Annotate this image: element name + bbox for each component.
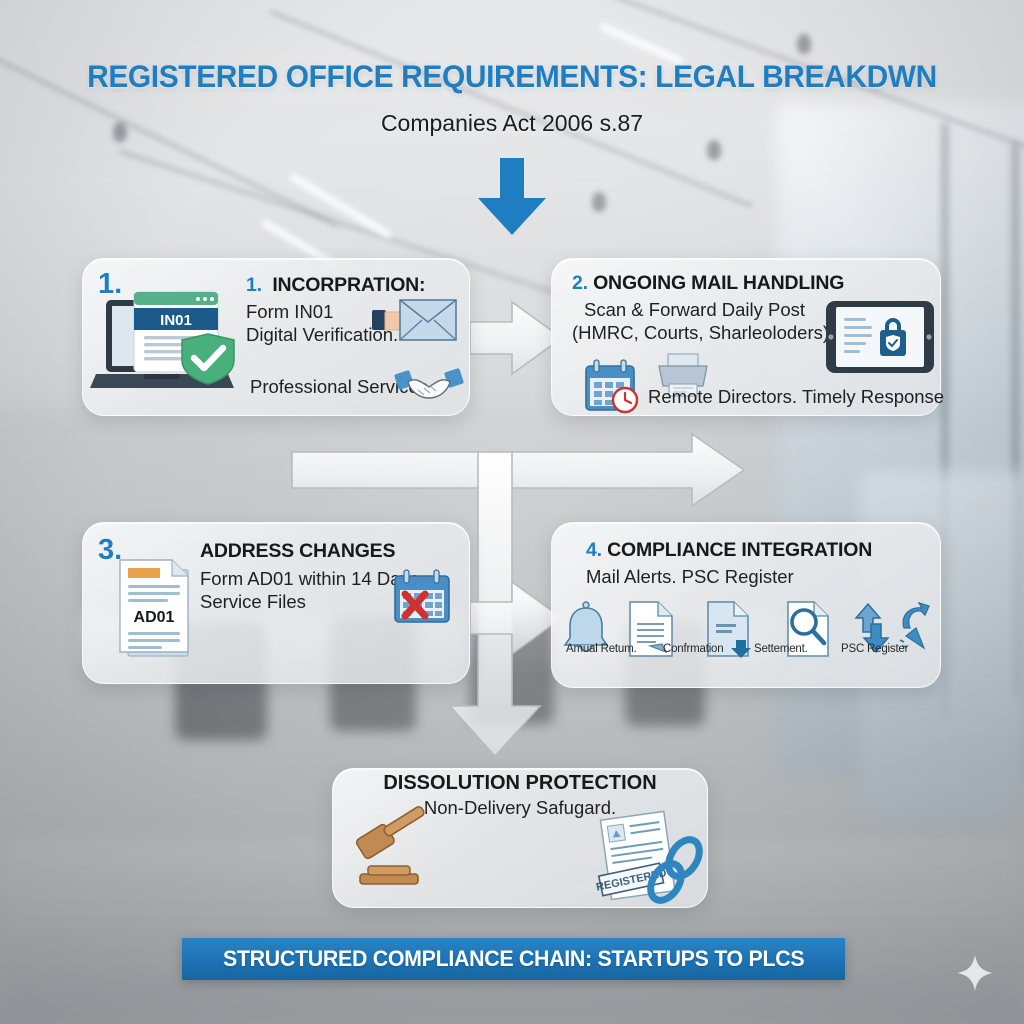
- icon-label-psc-register: PSC Register: [841, 643, 908, 655]
- card-2-heading-number: 2.: [572, 272, 588, 294]
- document-chain-icon: REGISTERED: [598, 812, 710, 908]
- icon-label-settlement: Settement.: [754, 643, 838, 655]
- svg-text:IN01: IN01: [160, 312, 192, 329]
- card-1-heading: 1. INCORPRATION:: [246, 274, 425, 297]
- footer-banner: STRUCTURED COMPLIANCE CHAIN: STARTUPS TO…: [182, 938, 845, 980]
- card-2-text-block: 2. ONGOING MAIL HANDLING Scan & Forward …: [572, 272, 844, 344]
- card-2-extra-label: Remote Directors. Timely Response: [648, 386, 944, 408]
- card-5-heading: DISSOLUTION PROTECTION: [332, 772, 708, 795]
- tablet-lock-icon: [825, 300, 935, 374]
- calendar-clock-icon: [583, 358, 645, 414]
- card-4-icon-labels: Amual Retum. Confrmation Settement. PSC …: [566, 643, 940, 655]
- card-2-heading: 2. ONGOING MAIL HANDLING: [572, 272, 844, 295]
- sparkle-icon: [956, 954, 994, 992]
- card-4-heading-label: COMPLIANCE INTEGRATION: [607, 539, 872, 561]
- page-title: REGISTERED OFFICE REQUIREMENTS: LEGAL BR…: [26, 58, 999, 95]
- document-ad01-icon: AD01: [118, 556, 200, 662]
- laptop-form-in01-icon: IN01: [92, 278, 244, 400]
- card-4-text-block: 4. COMPLIANCE INTEGRATION Mail Alerts. P…: [586, 539, 872, 589]
- svg-text:AD01: AD01: [134, 609, 175, 626]
- card-2-line-2: (HMRC, Courts, Sharleoloders).: [572, 322, 844, 345]
- icon-label-annual-return: Amual Retum.: [566, 643, 660, 655]
- card-4-line-1: Mail Alerts. PSC Register: [586, 566, 872, 589]
- card-1-heading-number: 1.: [246, 274, 262, 296]
- footer-banner-text: STRUCTURED COMPLIANCE CHAIN: STARTUPS TO…: [223, 946, 804, 972]
- page-subtitle: Companies Act 2006 s.87: [0, 110, 1024, 137]
- card-4-heading: 4. COMPLIANCE INTEGRATION: [586, 539, 872, 562]
- gavel-icon: [352, 812, 452, 894]
- calendar-x-icon: [391, 568, 453, 626]
- icon-label-confirmation: Confrmation: [663, 643, 751, 655]
- infographic-canvas: REGISTERED OFFICE REQUIREMENTS: LEGAL BR…: [0, 0, 1024, 1024]
- hand-envelope-icon: [372, 296, 460, 346]
- card-1-heading-label: INCORPRATION:: [272, 274, 425, 296]
- card-2-line-1: Scan & Forward Daily Post: [584, 299, 844, 322]
- card-3-heading: ADDRESS CHANGES: [200, 540, 424, 563]
- share-arrow-icon: [900, 603, 929, 648]
- handshake-icon: [396, 364, 462, 408]
- card-2-heading-label: ONGOING MAIL HANDLING: [593, 272, 844, 294]
- card-4-heading-number: 4.: [586, 539, 602, 561]
- down-arrow-icon: [474, 158, 550, 236]
